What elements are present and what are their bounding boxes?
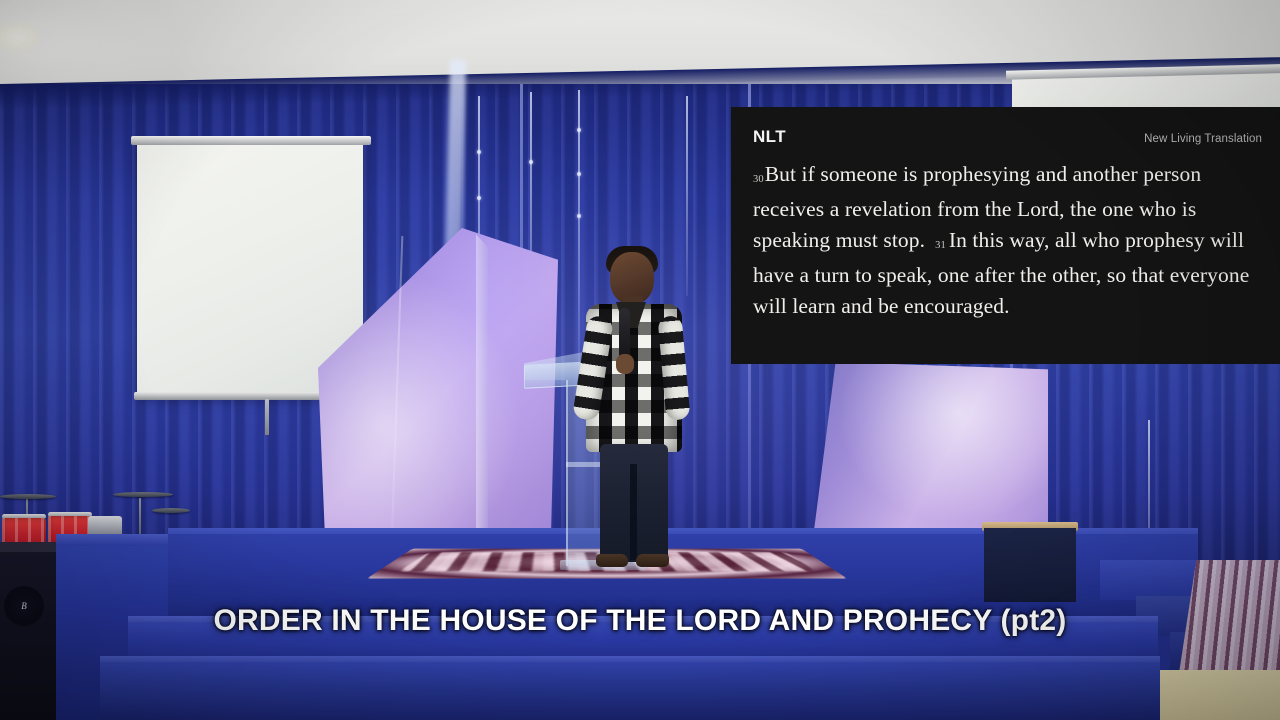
scripture-overlay-header: NLT New Living Translation [753,127,1262,147]
verse-number-30: 30 [753,174,764,185]
curtain-bead [577,172,581,176]
speaker-shoe-right [636,554,669,567]
video-frame: easyWORSHIP B [0,0,1280,720]
stage-block-left-top [56,534,168,546]
curtain-bead [577,128,581,132]
translation-full-name: New Living Translation [1144,133,1262,145]
scripture-overlay: NLT New Living Translation 30But if some… [731,107,1280,364]
microphone [619,308,630,360]
crash-cymbal [113,492,173,497]
scripture-text: 30But if someone is prophesying and anot… [753,159,1262,322]
floor-right [1150,670,1280,720]
stage-decor-panel-edge [476,228,488,544]
sermon-title-caption: ORDER IN THE HOUSE OF THE LORD AND PROHE… [0,604,1280,638]
speaker-leg-gap [630,464,637,560]
projection-screen-left-top-bar [131,136,371,145]
curtain-bead [477,150,481,154]
speaker-shoe-left [596,554,628,567]
speaker-person [578,246,688,568]
speaker-hand [616,354,634,374]
projection-screen-left-stand [265,399,269,435]
side-table [984,528,1076,602]
hihat-cymbal [152,508,190,513]
translation-abbreviation: NLT [753,127,786,147]
stage-decor-panel-right [812,362,1048,546]
stage-step-front-2 [100,662,1160,720]
curtain-bead [529,160,533,164]
verse-number-31: 31 [935,240,946,251]
curtain-bead [477,196,481,200]
curtain-bead [577,214,581,218]
crash-cymbal [0,494,56,499]
